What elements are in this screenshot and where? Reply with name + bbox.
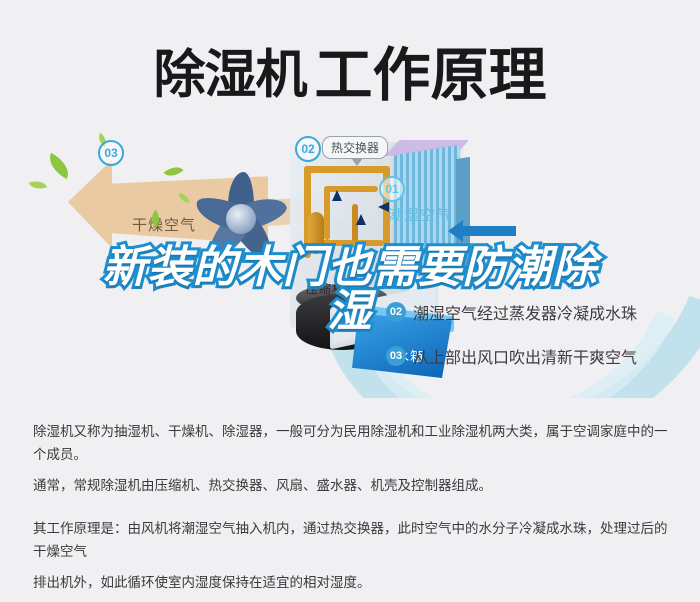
list-item: 03 从上部出风口吹出清新干爽空气	[386, 344, 686, 368]
body-copy: 除湿机又称为抽湿机、干燥机、除湿器，一般可分为民用除湿机和工业除湿机两大类，属于…	[33, 420, 673, 602]
paragraph-1-line-1: 除湿机又称为抽湿机、干燥机、除湿器，一般可分为民用除湿机和工业除湿机两大类，属于…	[33, 420, 673, 466]
paragraph-1-line-2: 通常，常规除湿机由压缩机、热交换器、风扇、盛水器、机壳及控制器组成。	[33, 474, 673, 497]
marker-02: 02	[295, 136, 321, 162]
paragraph-2-line-1: 其工作原理是：由风机将潮湿空气抽入机内，通过热交换器，此时空气中的水分子冷凝成水…	[33, 517, 673, 563]
infographic-page: 除湿机工作原理 干燥空气	[0, 0, 700, 566]
step-text-02: 潮湿空气经过蒸发器冷凝成水珠	[413, 300, 637, 324]
leaf-icon	[44, 153, 74, 179]
step-badge-03: 03	[386, 346, 406, 366]
fan-hub	[226, 204, 256, 234]
overlay-line-1: 新装的木门也需要防潮除	[0, 246, 700, 290]
humid-air-intake-arrow	[462, 226, 516, 236]
leaf-icon	[163, 162, 183, 181]
step-text-03: 从上部出风口吹出清新干爽空气	[413, 344, 637, 368]
paragraph-spacer	[33, 505, 673, 517]
list-item: 02 潮湿空气经过蒸发器冷凝成水珠	[386, 300, 686, 324]
title-part-one: 除湿机	[153, 47, 306, 105]
step-badge-02: 02	[386, 302, 406, 322]
step-list: 02 潮湿空气经过蒸发器冷凝成水珠 03 从上部出风口吹出清新干爽空气	[386, 300, 686, 388]
marker-01: 01	[379, 176, 405, 202]
paragraph-2-line-2: 排出机外，如此循环使室内湿度保持在适宜的相对湿度。	[33, 571, 673, 594]
humid-air-label: 潮湿空气	[388, 204, 452, 225]
title-part-two: 工作原理	[315, 43, 547, 108]
marker-03: 03	[98, 140, 124, 166]
flow-arrow-up-icon	[356, 214, 366, 225]
heat-exchanger-callout: 热交换器	[322, 136, 388, 159]
flow-arrow-up-icon	[332, 190, 342, 201]
leaf-icon	[29, 178, 47, 192]
page-title: 除湿机工作原理	[0, 28, 700, 112]
